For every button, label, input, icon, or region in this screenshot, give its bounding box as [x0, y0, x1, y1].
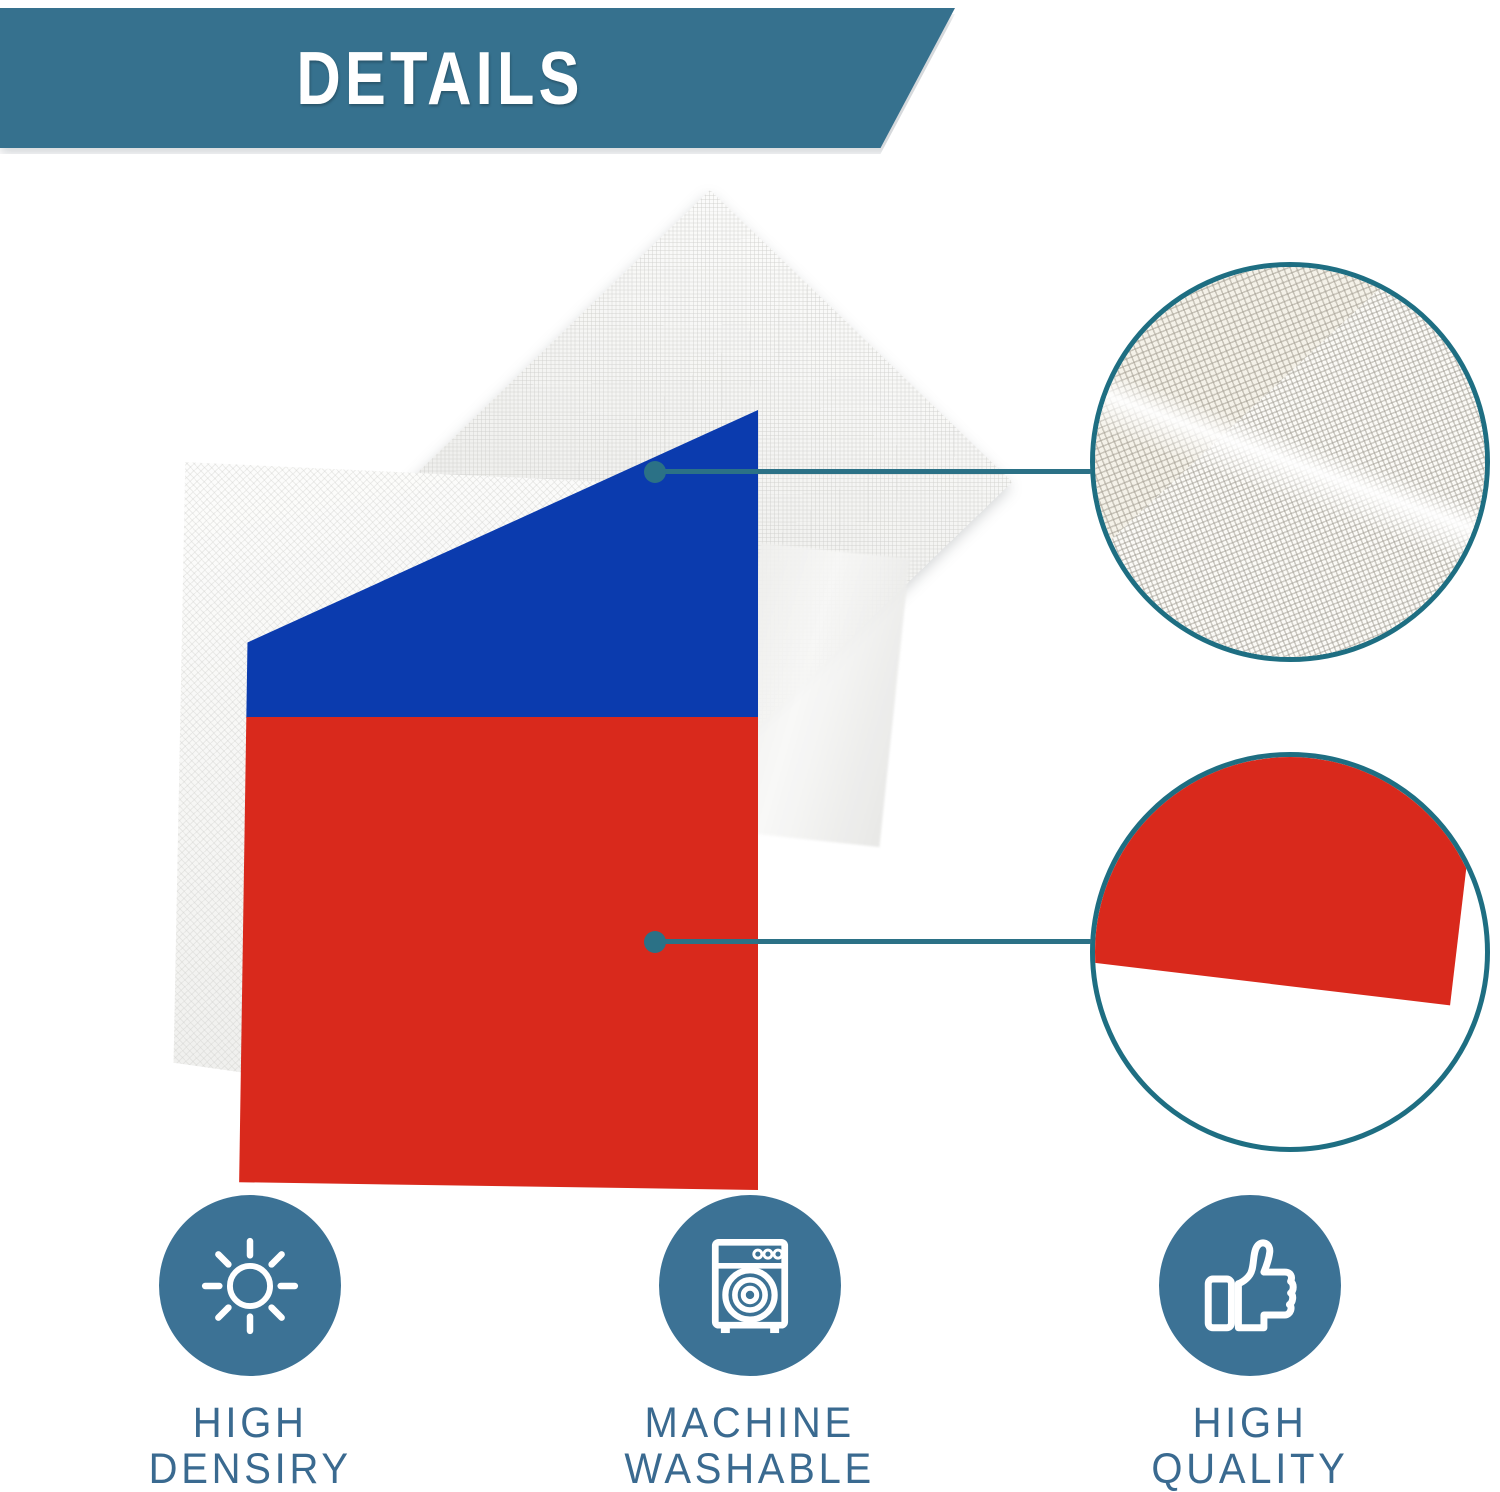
feature-label-line1: HIGH — [193, 1399, 308, 1447]
callout-line-top — [660, 469, 1092, 474]
towel-red-band — [236, 717, 758, 1190]
feature-high-quality: HIGH QUALITY — [1000, 1195, 1500, 1492]
callout-dot-top — [644, 461, 666, 483]
page-title: DETAILS — [79, 8, 801, 148]
thumbs-up-icon — [1192, 1228, 1308, 1344]
sun-icon — [191, 1227, 309, 1345]
feature-label: HIGH QUALITY — [1151, 1400, 1348, 1492]
callout-dot-bottom — [644, 931, 666, 953]
detail-circle-red-corner — [1090, 752, 1490, 1152]
feature-icon-circle — [659, 1195, 841, 1376]
product-detail-image: DETAILS — [0, 0, 1500, 1492]
feature-high-density: HIGH DENSIRY — [0, 1195, 500, 1492]
feature-label-line2: WASHABLE — [625, 1446, 876, 1492]
feature-label-line1: HIGH — [1193, 1399, 1308, 1447]
feature-label: MACHINE WASHABLE — [625, 1400, 876, 1492]
callout-line-bottom — [660, 939, 1092, 944]
feature-machine-washable: MACHINE WASHABLE — [500, 1195, 1000, 1492]
details-banner: DETAILS — [0, 8, 955, 148]
feature-icon-circle — [1159, 1195, 1341, 1376]
feature-label-line1: MACHINE — [645, 1399, 855, 1447]
fabric-fold-highlight — [1090, 262, 1490, 662]
detail-circle-fabric-weave — [1090, 262, 1490, 662]
feature-badges: HIGH DENSIRY — [0, 1195, 1500, 1492]
feature-icon-circle — [159, 1195, 341, 1376]
feature-label-line2: DENSIRY — [148, 1446, 351, 1492]
feature-label: HIGH DENSIRY — [148, 1400, 351, 1492]
washing-machine-icon — [694, 1230, 806, 1342]
red-fabric-corner — [1090, 752, 1485, 1053]
feature-label-line2: QUALITY — [1151, 1446, 1348, 1492]
